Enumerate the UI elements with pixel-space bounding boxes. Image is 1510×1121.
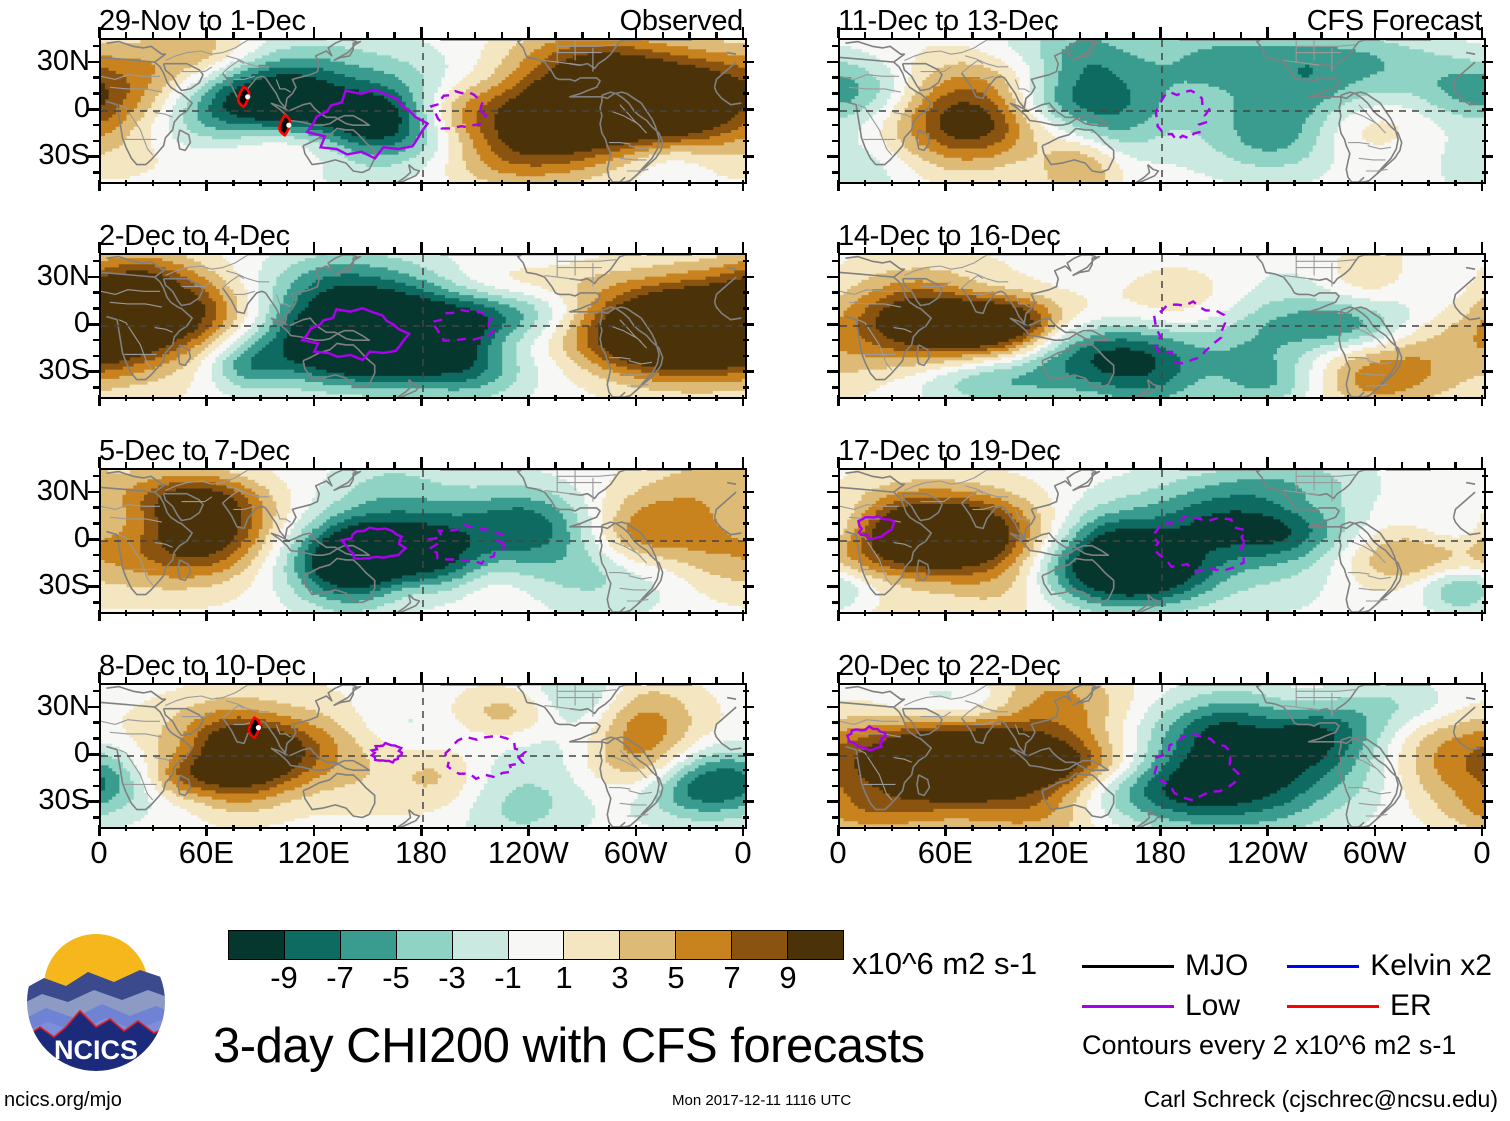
x-tick-mark — [581, 677, 584, 683]
x-tick-mark — [944, 610, 947, 621]
x-tick-0: 0 — [829, 837, 846, 868]
x-tick-mark — [1240, 610, 1243, 616]
colorbar-tick--7: -7 — [326, 962, 354, 993]
x-tick-mark — [1105, 462, 1108, 468]
y-tick-mark — [1482, 538, 1493, 541]
y-tick-mark — [1482, 800, 1493, 803]
x-tick-mark — [554, 395, 557, 401]
y-tick-mark — [832, 785, 838, 788]
x-tick-180: 180 — [1134, 837, 1186, 868]
x-tick-mark — [179, 610, 182, 616]
x-tick-mark — [1105, 180, 1108, 186]
y-tick-mark — [1482, 339, 1488, 342]
x-tick-mark — [313, 395, 316, 406]
y-tick-mark — [743, 291, 749, 294]
y-tick-mark — [93, 690, 99, 693]
x-tick-mark — [715, 32, 718, 38]
y-tick-mark — [743, 601, 749, 604]
y-tick-mark — [88, 585, 99, 588]
x-tick-mark — [837, 672, 840, 683]
legend-entry-kelvin-x2: Kelvin x2 — [1287, 951, 1492, 981]
x-tick-mark — [837, 180, 840, 191]
x-tick-mark — [1186, 395, 1189, 401]
x-tick-mark — [1293, 395, 1296, 401]
x-tick-mark — [366, 610, 369, 616]
x-tick-mark — [837, 457, 840, 468]
x-tick-mark — [971, 180, 974, 186]
x-tick-mark — [447, 247, 450, 253]
y-tick-30N: 30N — [37, 262, 90, 291]
x-tick-mark — [152, 180, 155, 186]
y-tick-mark — [93, 45, 99, 48]
x-tick-mark — [98, 242, 101, 253]
legend-entry-mjo: MJO — [1082, 951, 1287, 981]
y-tick-mark — [832, 769, 838, 772]
x-tick-mark — [1293, 180, 1296, 186]
x-tick-mark — [635, 27, 638, 38]
panel-title: 8-Dec to 10-Dec — [99, 652, 306, 681]
x-tick-mark — [1347, 462, 1350, 468]
map-panel-4: 8-Dec to 10-Dec30N030S060E120E180120W60W… — [99, 683, 743, 825]
colorbar-tick--9: -9 — [270, 962, 298, 993]
x-tick-mark — [152, 247, 155, 253]
x-tick-mark — [1293, 462, 1296, 468]
x-tick-mark — [1079, 677, 1082, 683]
y-tick-mark — [88, 706, 99, 709]
colorbar-tick-labels: -9-7-5-3-113579 — [228, 962, 844, 1002]
map-canvas — [838, 253, 1486, 399]
x-tick-mark — [1374, 180, 1377, 191]
x-tick-mark — [125, 825, 128, 831]
x-tick-mark — [501, 610, 504, 616]
y-tick-mark — [1482, 61, 1493, 64]
y-tick-mark — [832, 522, 838, 525]
x-tick-mark — [891, 247, 894, 253]
y-tick-mark — [832, 45, 838, 48]
x-tick-mark — [1320, 395, 1323, 401]
y-tick-mark — [832, 816, 838, 819]
y-tick-mark — [93, 769, 99, 772]
x-tick-mark — [340, 247, 343, 253]
x-tick-mark — [1240, 462, 1243, 468]
x-tick-mark — [1454, 825, 1457, 831]
y-tick-mark — [1482, 491, 1493, 494]
x-tick-mark — [1052, 395, 1055, 406]
x-tick-mark — [1454, 32, 1457, 38]
x-tick-mark — [152, 677, 155, 683]
x-tick-mark — [662, 247, 665, 253]
x-tick-mark — [501, 32, 504, 38]
x-tick-mark — [501, 677, 504, 683]
x-tick-mark — [742, 672, 745, 683]
y-tick-mark — [1482, 753, 1493, 756]
x-tick-mark — [447, 180, 450, 186]
x-tick-mark — [1454, 180, 1457, 186]
x-tick-mark — [1025, 825, 1028, 831]
x-tick-mark — [1079, 462, 1082, 468]
colorbar-tick-5: 5 — [667, 962, 684, 993]
x-tick-mark — [971, 462, 974, 468]
y-tick-mark — [832, 690, 838, 693]
site-url[interactable]: ncics.org/mjo — [4, 1090, 122, 1110]
x-tick-mark — [259, 395, 262, 401]
x-tick-mark — [715, 180, 718, 186]
x-tick-mark — [662, 395, 665, 401]
y-tick-mark — [93, 554, 99, 557]
x-tick-mark — [205, 610, 208, 621]
legend-line-swatch — [1082, 1005, 1174, 1008]
x-tick-mark — [1105, 825, 1108, 831]
x-tick-mark — [501, 825, 504, 831]
x-tick-mark — [313, 180, 316, 191]
x-tick-mark — [447, 825, 450, 831]
x-tick-mark — [286, 610, 289, 616]
x-tick-mark — [1427, 32, 1430, 38]
x-tick-mark — [1293, 825, 1296, 831]
x-tick-mark — [1186, 462, 1189, 468]
y-tick-mark — [827, 323, 838, 326]
x-tick-mark — [998, 677, 1001, 683]
x-tick-mark — [313, 242, 316, 253]
y-tick-mark — [93, 721, 99, 724]
x-tick-mark — [259, 610, 262, 616]
x-tick-mark — [1454, 395, 1457, 401]
x-tick-mark — [715, 677, 718, 683]
y-tick-mark — [827, 538, 838, 541]
colorbar-swatch-10 — [788, 931, 843, 959]
x-tick-mark — [1427, 395, 1430, 401]
y-tick-mark — [832, 92, 838, 95]
x-tick-mark — [918, 180, 921, 186]
x-tick-mark — [837, 395, 840, 406]
x-tick-mark — [420, 27, 423, 38]
x-tick-mark — [742, 27, 745, 38]
ncics-logo: NCICS — [22, 928, 170, 1076]
x-tick-mark — [1374, 395, 1377, 406]
y-tick-mark — [832, 291, 838, 294]
x-tick-mark — [944, 457, 947, 468]
x-tick-mark — [1105, 677, 1108, 683]
x-tick-mark — [1481, 242, 1484, 253]
x-tick-mark — [286, 32, 289, 38]
y-tick-mark — [1482, 76, 1488, 79]
x-tick-mark — [1320, 32, 1323, 38]
x-tick-mark — [1347, 825, 1350, 831]
y-tick-mark — [1482, 522, 1488, 525]
x-tick-mark — [393, 180, 396, 186]
x-tick-mark — [474, 462, 477, 468]
x-tick-mark — [715, 247, 718, 253]
x-tick-mark — [1374, 242, 1377, 253]
y-tick-mark — [743, 260, 749, 263]
x-tick-mark — [179, 32, 182, 38]
x-tick-mark — [1132, 610, 1135, 616]
author-credit[interactable]: Carl Schreck (cjschrec@ncsu.edu) — [1144, 1088, 1498, 1111]
y-tick-30N: 30N — [37, 692, 90, 721]
colorbar-swatch-4 — [453, 931, 509, 959]
x-tick-mark — [98, 180, 101, 191]
x-tick-mark — [1052, 672, 1055, 683]
x-tick-mark — [340, 825, 343, 831]
x-tick-mark — [152, 32, 155, 38]
x-tick-mark — [474, 180, 477, 186]
x-tick-mark — [1186, 825, 1189, 831]
x-tick-mark — [1481, 610, 1484, 621]
x-tick-mark — [742, 395, 745, 406]
x-tick-mark — [393, 462, 396, 468]
colorbar-swatch-5 — [509, 931, 565, 959]
x-tick-mark — [1293, 32, 1296, 38]
x-tick-mark — [1266, 27, 1269, 38]
x-tick-mark — [527, 180, 530, 191]
y-tick-mark — [743, 339, 749, 342]
x-tick-mark — [125, 247, 128, 253]
x-tick-mark — [1052, 242, 1055, 253]
x-tick-mark — [393, 247, 396, 253]
x-tick-mark — [1347, 395, 1350, 401]
x-tick-mark — [715, 610, 718, 616]
map-canvas — [838, 38, 1486, 184]
x-tick-0: 0 — [1473, 837, 1490, 868]
x-tick-mark — [554, 247, 557, 253]
x-tick-mark — [501, 180, 504, 186]
y-tick-mark — [1482, 140, 1488, 143]
x-tick-mark — [662, 825, 665, 831]
x-tick-mark — [179, 462, 182, 468]
legend-label: Kelvin x2 — [1370, 951, 1492, 981]
x-tick-mark — [918, 462, 921, 468]
x-tick-mark — [1025, 180, 1028, 186]
x-tick-mark — [971, 677, 974, 683]
y-tick-mark — [832, 737, 838, 740]
x-tick-mark — [581, 610, 584, 616]
y-tick-mark — [743, 721, 749, 724]
x-tick-mark — [1374, 672, 1377, 683]
x-tick-mark — [1320, 677, 1323, 683]
x-tick-mark — [125, 32, 128, 38]
colorbar-tick--3: -3 — [438, 962, 466, 993]
x-tick-mark — [1481, 27, 1484, 38]
y-tick-mark — [743, 307, 749, 310]
y-tick-mark — [832, 570, 838, 573]
y-tick-mark — [743, 538, 754, 541]
x-tick-mark — [1025, 677, 1028, 683]
y-tick-mark — [832, 140, 838, 143]
x-tick-mark — [98, 395, 101, 406]
y-tick-mark — [93, 737, 99, 740]
x-tick-mark — [447, 677, 450, 683]
x-tick-mark — [1025, 610, 1028, 616]
x-tick-mark — [998, 825, 1001, 831]
x-tick-mark — [393, 610, 396, 616]
y-tick-mark — [1482, 386, 1488, 389]
x-tick-mark — [1427, 462, 1430, 468]
x-tick-mark — [474, 395, 477, 401]
x-tick-mark — [1079, 610, 1082, 616]
x-tick-mark — [366, 462, 369, 468]
x-axis-labels: 060E120E180120W60W0 — [838, 837, 1482, 877]
y-tick-mark — [743, 522, 749, 525]
x-tick-mark — [688, 825, 691, 831]
x-tick-mark — [366, 247, 369, 253]
x-tick-mark — [891, 610, 894, 616]
colorbar-tick--5: -5 — [382, 962, 410, 993]
x-tick-mark — [1401, 32, 1404, 38]
y-tick-mark — [93, 307, 99, 310]
x-tick-mark — [1079, 180, 1082, 186]
y-tick-mark — [827, 61, 838, 64]
x-tick-mark — [232, 247, 235, 253]
x-tick-mark — [98, 672, 101, 683]
y-tick-30S: 30S — [38, 356, 90, 385]
y-tick-mark — [743, 386, 749, 389]
x-tick-60E: 60E — [918, 837, 973, 868]
y-tick-mark — [1482, 506, 1488, 509]
x-tick-mark — [286, 462, 289, 468]
x-tick-mark — [1427, 825, 1430, 831]
y-tick-mark — [93, 339, 99, 342]
x-tick-mark — [998, 247, 1001, 253]
x-tick-mark — [1213, 180, 1216, 186]
x-tick-mark — [891, 677, 894, 683]
x-tick-mark — [688, 32, 691, 38]
x-tick-mark — [98, 27, 101, 38]
x-tick-mark — [918, 395, 921, 401]
x-tick-mark — [1213, 247, 1216, 253]
x-tick-mark — [1213, 825, 1216, 831]
colorbar-swatch-1 — [285, 931, 341, 959]
x-tick-mark — [179, 395, 182, 401]
x-tick-mark — [715, 462, 718, 468]
x-tick-mark — [635, 457, 638, 468]
x-tick-mark — [232, 32, 235, 38]
x-tick-mark — [1481, 395, 1484, 406]
x-tick-mark — [125, 462, 128, 468]
legend-line-swatch — [1287, 1005, 1379, 1008]
x-tick-mark — [1132, 825, 1135, 831]
x-tick-mark — [232, 395, 235, 401]
x-tick-mark — [1079, 825, 1082, 831]
x-tick-mark — [998, 462, 1001, 468]
x-tick-mark — [1105, 610, 1108, 616]
x-tick-mark — [1105, 395, 1108, 401]
x-tick-mark — [474, 825, 477, 831]
x-tick-mark — [393, 32, 396, 38]
x-tick-mark — [286, 825, 289, 831]
x-tick-mark — [259, 462, 262, 468]
x-tick-mark — [286, 180, 289, 186]
y-tick-mark — [827, 753, 838, 756]
x-tick-mark — [1132, 180, 1135, 186]
y-tick-mark — [832, 475, 838, 478]
colorbar-tick--1: -1 — [494, 962, 522, 993]
x-tick-mark — [1320, 462, 1323, 468]
y-tick-mark — [743, 355, 749, 358]
figure-title: 3-day CHI200 with CFS forecasts — [213, 1022, 925, 1071]
colorbar-swatch-7 — [620, 931, 676, 959]
x-tick-mark — [313, 27, 316, 38]
x-tick-60W: 60W — [1343, 837, 1407, 868]
y-tick-mark — [1482, 690, 1488, 693]
x-tick-mark — [1347, 180, 1350, 186]
y-tick-30S: 30S — [38, 786, 90, 815]
x-tick-mark — [1401, 462, 1404, 468]
y-tick-mark — [832, 601, 838, 604]
x-tick-mark — [864, 180, 867, 186]
legend-label: MJO — [1185, 951, 1248, 981]
x-tick-mark — [152, 462, 155, 468]
x-tick-mark — [918, 610, 921, 616]
legend-line-swatch — [1287, 965, 1359, 968]
x-tick-mark — [998, 180, 1001, 186]
y-tick-mark — [1482, 785, 1488, 788]
x-tick-mark — [232, 610, 235, 616]
x-tick-mark — [340, 610, 343, 616]
x-tick-mark — [179, 180, 182, 186]
x-tick-mark — [1213, 32, 1216, 38]
x-tick-mark — [1401, 247, 1404, 253]
y-tick-mark — [743, 155, 754, 158]
map-canvas — [838, 683, 1486, 829]
y-tick-mark — [743, 785, 749, 788]
y-tick-mark — [1482, 570, 1488, 573]
y-tick-mark — [743, 737, 749, 740]
x-tick-mark — [125, 180, 128, 186]
x-tick-mark — [393, 677, 396, 683]
x-tick-mark — [125, 610, 128, 616]
x-tick-mark — [527, 672, 530, 683]
x-tick-mark — [1481, 180, 1484, 191]
y-tick-mark — [88, 491, 99, 494]
legend-row: MJOKelvin x2 — [1082, 946, 1502, 986]
x-tick-mark — [891, 462, 894, 468]
timestamp: Mon 2017-12-11 1116 UTC — [672, 1093, 851, 1108]
x-tick-mark — [864, 395, 867, 401]
colorbar-swatch-9 — [732, 931, 788, 959]
y-tick-mark — [743, 816, 749, 819]
x-tick-mark — [608, 32, 611, 38]
contour-legend: MJOKelvin x2LowER — [1082, 946, 1502, 1026]
x-tick-mark — [864, 462, 867, 468]
x-tick-mark — [447, 462, 450, 468]
y-tick-mark — [93, 92, 99, 95]
x-tick-mark — [1052, 610, 1055, 621]
logo-text: NCICS — [54, 1035, 138, 1065]
x-tick-mark — [1240, 677, 1243, 683]
x-tick-mark — [837, 242, 840, 253]
x-tick-mark — [393, 395, 396, 401]
y-tick-mark — [743, 690, 749, 693]
x-tick-mark — [179, 247, 182, 253]
y-tick-mark — [1482, 475, 1488, 478]
x-tick-mark — [837, 27, 840, 38]
x-tick-mark — [259, 180, 262, 186]
y-tick-mark — [832, 124, 838, 127]
x-tick-mark — [1025, 462, 1028, 468]
x-tick-mark — [1454, 247, 1457, 253]
x-tick-mark — [554, 32, 557, 38]
x-tick-mark — [1374, 610, 1377, 621]
colorbar-tick-1: 1 — [555, 962, 572, 993]
y-tick-mark — [93, 140, 99, 143]
x-tick-mark — [554, 180, 557, 186]
x-tick-mark — [286, 395, 289, 401]
x-tick-mark — [662, 610, 665, 616]
x-tick-mark — [971, 395, 974, 401]
x-tick-mark — [1159, 180, 1162, 191]
y-tick-mark — [93, 124, 99, 127]
x-tick-mark — [366, 677, 369, 683]
